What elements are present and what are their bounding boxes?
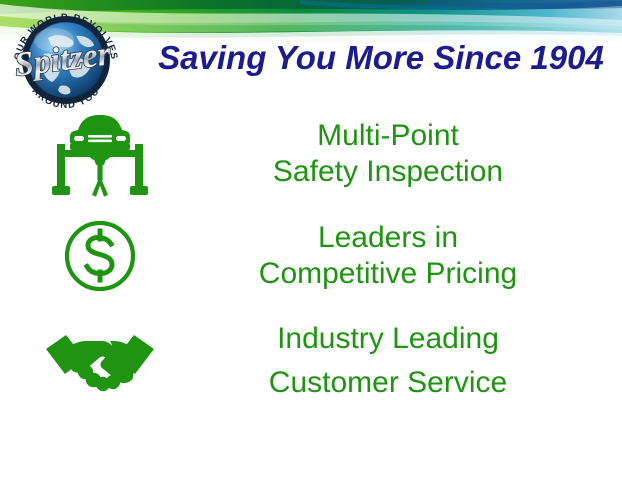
- spitzer-logo[interactable]: OUR WORLD REVOLVES AROUND YOU Spitzer: [4, 2, 128, 114]
- handshake-icon-graphic: [44, 321, 156, 401]
- feature-label-leaders-in-competitive-pricing: Leaders in Competitive Pricing: [200, 220, 622, 292]
- car-lift-icon: [0, 110, 200, 198]
- feature-row-leaders-in-competitive-pricing: Leaders in Competitive Pricing: [0, 204, 622, 308]
- promo-slide: OUR WORLD REVOLVES AROUND YOU Spitzer Sa…: [0, 0, 622, 483]
- page-title: Saving You More Since 1904: [148, 38, 614, 78]
- dollar-circle-icon-graphic: [60, 216, 140, 296]
- feature-row-industry-leading-customer-service: Industry Leading Customer Service: [0, 308, 622, 414]
- car-lift-icon-graphic: [52, 110, 148, 198]
- feature-label-industry-leading-customer-service: Industry Leading Customer Service: [200, 317, 622, 405]
- dollar-circle-icon: [0, 216, 200, 296]
- features-list: Multi-Point Safety Inspection Leaders in…: [0, 104, 622, 414]
- handshake-icon: [0, 321, 200, 401]
- spitzer-logo-graphic: OUR WORLD REVOLVES AROUND YOU Spitzer: [4, 2, 128, 114]
- feature-row-multi-point-safety-inspection: Multi-Point Safety Inspection: [0, 104, 622, 204]
- feature-label-multi-point-safety-inspection: Multi-Point Safety Inspection: [200, 118, 622, 190]
